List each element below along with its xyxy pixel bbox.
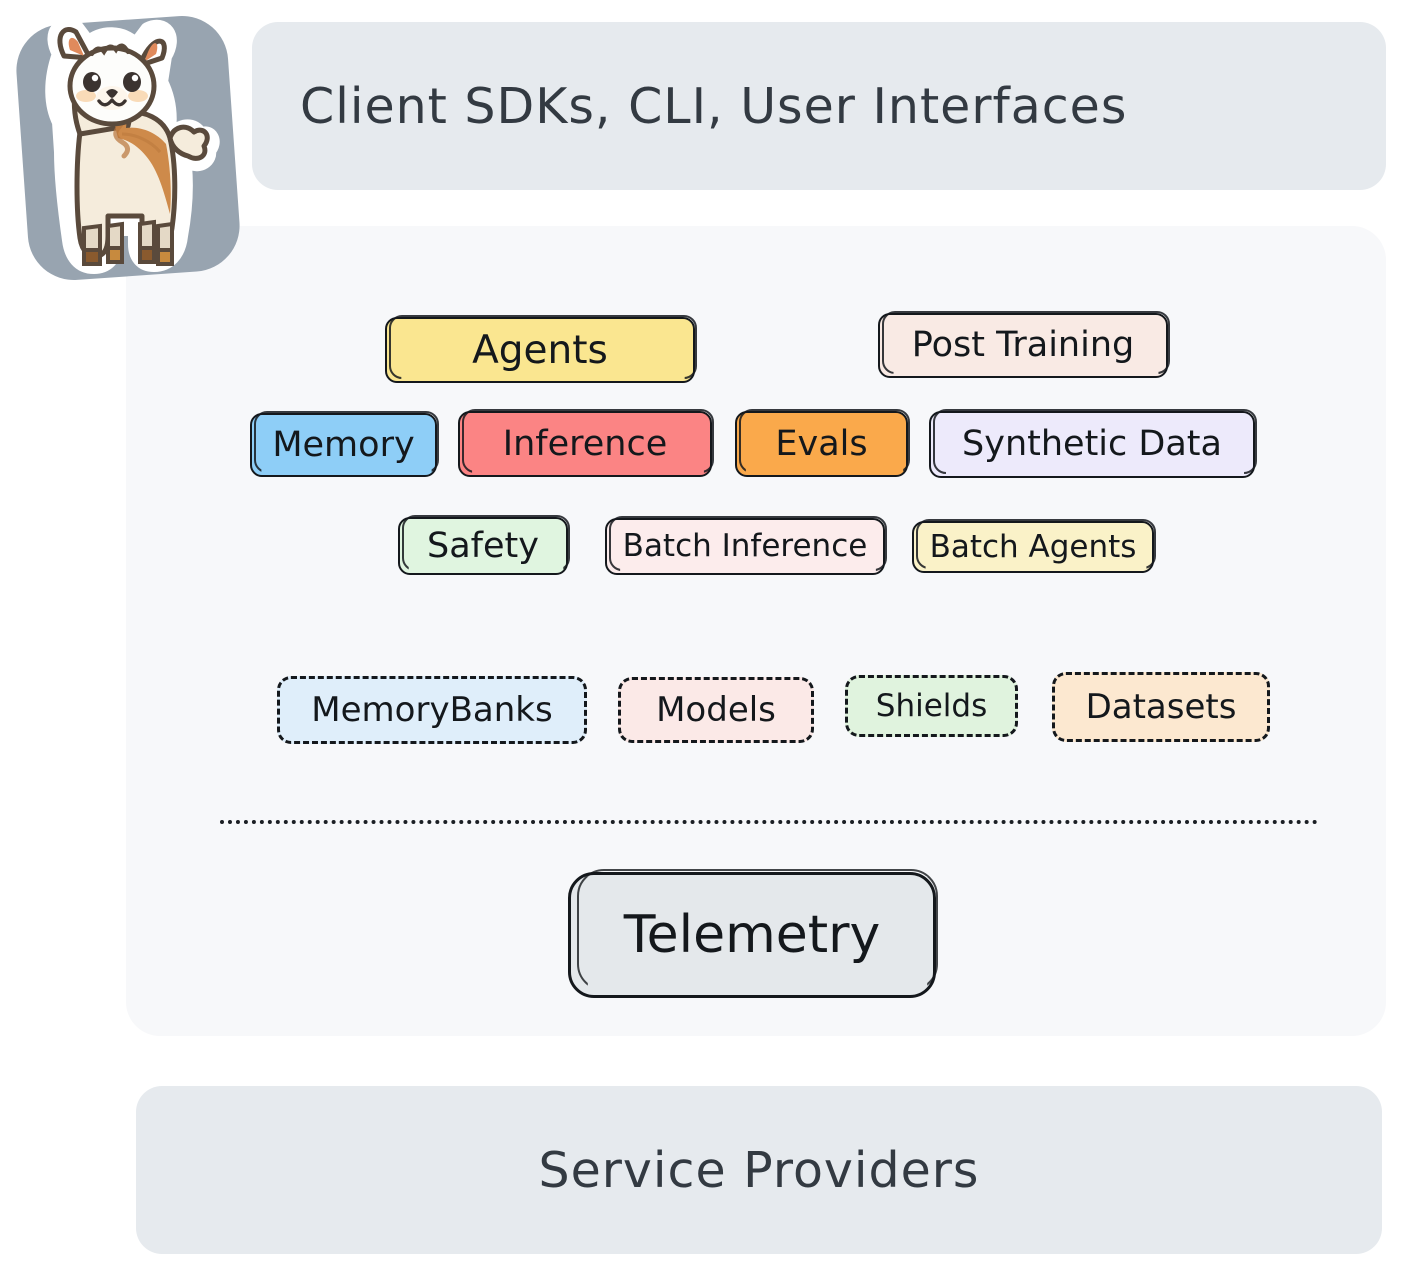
- api-node-agents-label: Agents: [472, 331, 608, 370]
- header-title: Client SDKs, CLI, User Interfaces: [300, 78, 1127, 135]
- api-node-inference-label: Inference: [503, 427, 667, 462]
- telemetry-node-label: Telemetry: [624, 905, 881, 965]
- api-node-post-training[interactable]: Post Training: [878, 313, 1168, 378]
- api-node-memory-label: Memory: [272, 428, 414, 463]
- api-node-inference[interactable]: Inference: [458, 411, 712, 477]
- api-node-post-training-label: Post Training: [912, 328, 1134, 363]
- resource-node-datasets[interactable]: Datasets: [1052, 672, 1270, 742]
- api-node-safety[interactable]: Safety: [398, 517, 568, 575]
- client-layer-bar: Client SDKs, CLI, User Interfaces: [252, 22, 1386, 190]
- api-node-synthetic-data-label: Synthetic Data: [962, 427, 1222, 462]
- api-node-batch-agents-label: Batch Agents: [930, 532, 1137, 563]
- api-node-evals[interactable]: Evals: [735, 411, 908, 477]
- resource-node-models-label: Models: [656, 693, 776, 727]
- api-node-memory[interactable]: Memory: [250, 413, 437, 477]
- resource-node-memorybanks[interactable]: MemoryBanks: [277, 676, 587, 744]
- api-node-evals-label: Evals: [775, 427, 867, 462]
- service-providers-bar: Service Providers: [136, 1086, 1382, 1254]
- telemetry-node[interactable]: Telemetry: [568, 872, 936, 998]
- resource-node-datasets-label: Datasets: [1086, 690, 1237, 724]
- api-node-batch-inference-label: Batch Inference: [623, 531, 868, 562]
- section-divider: [220, 820, 1318, 824]
- resource-node-models[interactable]: Models: [618, 677, 814, 743]
- resource-node-memorybanks-label: MemoryBanks: [311, 693, 552, 727]
- api-node-batch-agents[interactable]: Batch Agents: [912, 521, 1154, 573]
- llama-logo-icon: [18, 14, 228, 276]
- resource-node-shields-label: Shields: [876, 691, 987, 722]
- api-node-synthetic-data[interactable]: Synthetic Data: [929, 411, 1255, 478]
- api-node-agents[interactable]: Agents: [385, 317, 695, 383]
- api-node-safety-label: Safety: [427, 529, 539, 564]
- footer-title: Service Providers: [539, 1142, 980, 1199]
- api-node-batch-inference[interactable]: Batch Inference: [605, 518, 885, 575]
- resource-node-shields[interactable]: Shields: [845, 675, 1018, 737]
